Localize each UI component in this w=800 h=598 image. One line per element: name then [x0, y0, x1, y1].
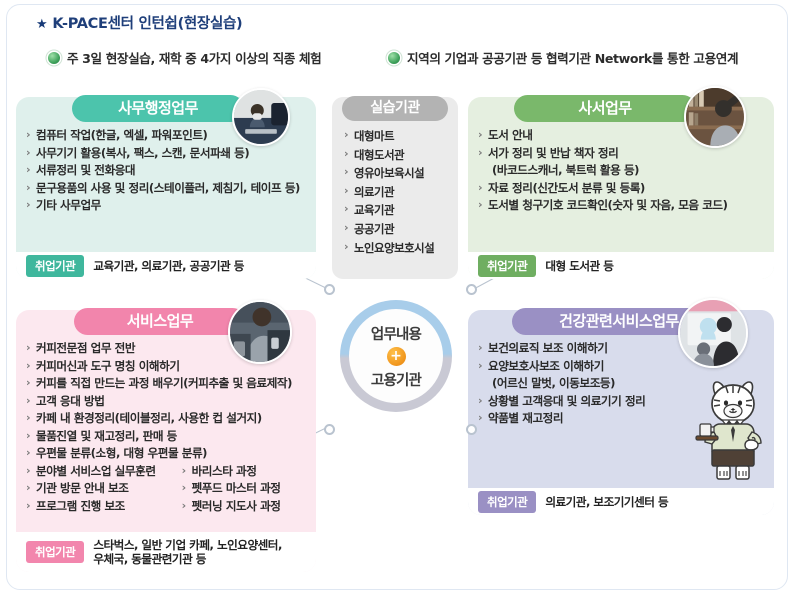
list-item: 분야별 서비스업 실무훈련 [26, 463, 182, 481]
hub-circle[interactable]: 업무내용 + 고용기관 [340, 300, 452, 412]
list-item: 문구용품의 사용 및 정리(스테이플러, 제침기, 테이프 등) [26, 180, 308, 198]
hub-inner: 업무내용 + 고용기관 [349, 309, 443, 403]
employer-value: 대형 도서관 등 [545, 259, 613, 273]
list-item: 도서별 청구기호 코드확인(숫자 및 자음, 모음 코드) [478, 197, 766, 215]
location-pin-icon [48, 52, 60, 64]
list-item: 서가 정리 및 반납 책자 정리 [478, 145, 766, 163]
connector-node-top-right [466, 284, 477, 295]
list-item: 펫러닝 지도사 과정 [182, 498, 308, 516]
header-bullet-1-text: 주 3일 현장실습, 재학 중 4가지 이상의 직종 체험 [67, 51, 321, 66]
list-item: 프로그램 진행 보조 [26, 498, 182, 516]
connector-node-top-left [324, 284, 335, 295]
card-service-subcol-right: 바리스타 과정 펫푸드 마스터 과정 펫러닝 지도사 과정 [182, 463, 308, 516]
list-item: 기타 사무업무 [26, 197, 308, 215]
card-practice-institutions[interactable]: 실습기관 대형마트 대형도서관 영유아보육시설 의료기관 교육기관 공공기관 노… [332, 97, 458, 279]
employer-value: 교육기관, 의료기관, 공공기관 등 [93, 259, 244, 273]
office-work-photo [232, 88, 290, 146]
hub-top-label: 업무내용 [371, 323, 421, 344]
library-shelving-photo [684, 86, 746, 148]
header-bullet-2: 지역의 기업과 공공기관 등 협력기관 Network를 통한 고용연계 [388, 48, 738, 67]
page-title: ★K-PACE센터 인턴쉽(현장실습) [36, 12, 242, 33]
employer-label-badge: 취업기관 [26, 255, 84, 277]
library-shelving-photo-image [686, 88, 744, 146]
card-health-employer-strip: 취업기관 의료기관, 보조기기센터 등 [468, 488, 774, 515]
office-work-photo-image [234, 90, 288, 144]
list-item: 고객 응대 방법 [26, 393, 308, 411]
header-bullet-1: 주 3일 현장실습, 재학 중 4가지 이상의 직종 체험 [48, 48, 321, 67]
list-item: 물품진열 및 재고정리, 판매 등 [26, 428, 308, 446]
star-icon: ★ [36, 17, 47, 32]
card-practice-title: 실습기관 [342, 96, 448, 121]
header-bullet-2-text: 지역의 기업과 공공기관 등 협력기관 Network를 통한 고용연계 [407, 51, 738, 66]
card-office-employer-strip: 취업기관 교육기관, 의료기관, 공공기관 등 [16, 252, 316, 279]
employer-label-badge: 취업기관 [478, 255, 536, 277]
employer-value: 스타벅스, 일반 기업 카페, 노인요양센터, 우체국, 동물관련기관 등 [93, 538, 282, 566]
connector-node-bottom-left [324, 424, 335, 435]
employer-value: 의료기관, 보조기기센터 등 [545, 495, 668, 509]
page-title-text: K-PACE센터 인턴쉽(현장실습) [52, 16, 242, 32]
card-service-employer-strip: 취업기관 스타벅스, 일반 기업 카페, 노인요양센터, 우체국, 동물관련기관… [16, 532, 316, 572]
card-librarian-title: 사서업무 [514, 95, 696, 122]
list-item: 자료 정리(신간도서 분류 및 등록) [478, 180, 766, 198]
list-item: 펫푸드 마스터 과정 [182, 480, 308, 498]
barista-cafe-photo-image [230, 302, 290, 362]
card-practice-list: 대형마트 대형도서관 영유아보육시설 의료기관 교육기관 공공기관 노인요양보호… [344, 127, 434, 257]
list-item: 우편물 분류(소형, 대형 우편물 분류) [26, 445, 308, 463]
list-item-continuation: (바코드스캐너, 북트럭 활용 등) [478, 162, 766, 180]
list-item: 기관 방문 안내 보조 [26, 480, 182, 498]
employer-label-badge: 취업기관 [26, 541, 84, 563]
barista-cafe-photo [228, 300, 292, 364]
card-service-subcol-left: 분야별 서비스업 실무훈련 기관 방문 안내 보조 프로그램 진행 보조 [26, 463, 182, 516]
list-item: 영유아보육시설 [344, 164, 434, 183]
list-item: 교육기관 [344, 201, 434, 220]
list-item: 대형마트 [344, 127, 434, 146]
health-training-photo [678, 298, 748, 368]
list-item: 서류정리 및 전화응대 [26, 162, 308, 180]
card-office-title: 사무행정업무 [72, 95, 244, 122]
list-item: 사무기기 활용(복사, 팩스, 스캔, 문서파쇄 등) [26, 145, 308, 163]
list-item: 의료기관 [344, 183, 434, 202]
list-item: 커피를 직접 만드는 과정 배우기(커피추출 및 음료제작) [26, 375, 308, 393]
card-service-list: 커피전문점 업무 전반 커피머신과 도구 명칭 이해하기 커피를 직접 만드는 … [26, 340, 308, 515]
plus-icon: + [387, 347, 406, 366]
white-tiger-mascot-image [694, 374, 772, 482]
list-item: 카페 내 환경정리(테이블정리, 사용한 컵 설거지) [26, 410, 308, 428]
white-tiger-mascot [694, 374, 772, 482]
connector-node-bottom-right [466, 424, 477, 435]
card-librarian-employer-strip: 취업기관 대형 도서관 등 [468, 252, 774, 279]
list-item: 노인요양보호시설 [344, 239, 434, 258]
employer-label-badge: 취업기관 [478, 491, 536, 513]
hub-bottom-label: 고용기관 [371, 369, 421, 390]
list-item: 바리스타 과정 [182, 463, 308, 481]
list-item: 대형도서관 [344, 146, 434, 165]
card-service-title: 서비스업무 [74, 308, 246, 335]
location-pin-icon [388, 52, 400, 64]
list-item: 공공기관 [344, 220, 434, 239]
health-training-photo-image [680, 300, 746, 366]
